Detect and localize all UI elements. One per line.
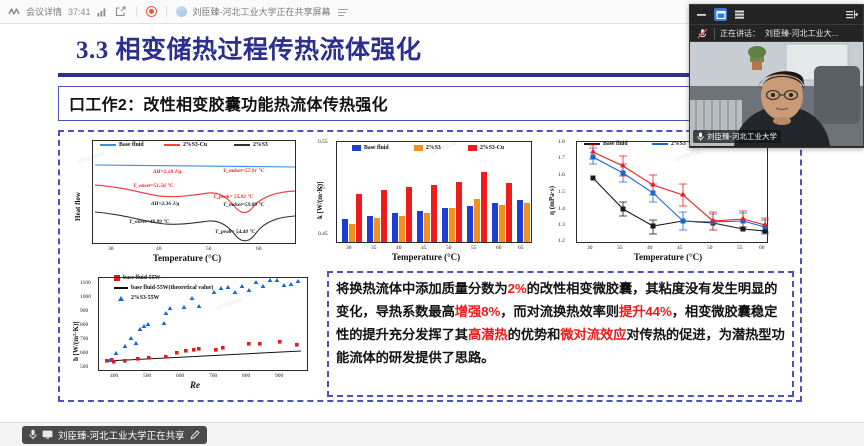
collapse-panel-icon[interactable] — [845, 8, 858, 21]
body-text: 的优势和 — [508, 327, 561, 342]
y-tick: 500 — [80, 364, 88, 370]
y-tick: 900 — [80, 308, 88, 314]
chart-dsc: 1070003192 Base fluid 2%S3-Cu — [66, 137, 304, 265]
bar — [449, 208, 455, 242]
chart-x-axis-label: Temperature (°C) — [82, 253, 292, 263]
y-tick: 600 — [80, 350, 88, 356]
x-tick: 30 — [108, 246, 114, 252]
x-tick: 45 — [677, 245, 683, 251]
list-icon[interactable] — [337, 6, 349, 18]
bar — [424, 213, 430, 242]
mic-muted-icon — [696, 27, 709, 40]
mic-icon[interactable] — [29, 429, 37, 440]
chart-annotation: ΔH=2.18 J/g — [153, 169, 181, 175]
y-tick: 1.8 — [558, 139, 565, 145]
x-tick: 60 — [256, 246, 262, 252]
bar — [406, 187, 412, 242]
list-view-icon[interactable] — [733, 8, 746, 21]
bar — [381, 190, 387, 242]
slide-subtitle: 口工作2：改性相变胶囊功能热流体传热强化 — [69, 97, 388, 114]
highlighted-text: 高潜热 — [468, 327, 508, 342]
chart-plot-area: ΔH=2.18 J/g T_onset=51.56 °C T_mdset=57.… — [92, 140, 296, 244]
sharing-status-text: 刘臣臻-河北工业大学正在共享 — [58, 428, 185, 442]
participant-name: 刘臣臻-河北工业大学 — [707, 131, 777, 142]
chart-y-axis-label: h [W/(m²·K)] — [72, 321, 80, 361]
participant-name-badge: 刘臣臻-河北工业大学 — [693, 130, 781, 143]
x-tick: 60 — [759, 245, 765, 251]
x-tick: 900 — [275, 373, 283, 379]
bar — [392, 213, 398, 242]
content-row-bottom: 1070003192 base fluid-55W base fluid-55W… — [66, 271, 794, 397]
chart-x-axis-label: Temperature (°C) — [568, 252, 768, 262]
y-tick: 1.6 — [558, 172, 565, 178]
chart-viscosity: 1070003192 Base fluid 2%S3 — [544, 137, 780, 265]
x-tick: 30 — [587, 245, 593, 251]
bar — [517, 200, 523, 242]
bar — [531, 186, 532, 242]
pencil-icon[interactable] — [190, 430, 200, 440]
x-tick: 60 — [496, 245, 502, 251]
x-tick: 50 — [707, 245, 713, 251]
y-tick: 800 — [80, 322, 88, 328]
bar — [399, 216, 405, 242]
mic-icon — [697, 132, 704, 141]
bar — [417, 211, 423, 242]
divider — [166, 6, 167, 17]
chart-plot-area — [98, 277, 308, 371]
x-tick: 45 — [421, 245, 427, 251]
chart-y-axis-label: Heat flow — [74, 192, 82, 221]
video-feed[interactable]: 刘臣臻-河北工业大学 — [690, 42, 863, 146]
chart-y-axis-label: η (mPa·s) — [548, 186, 556, 215]
x-tick: 40 — [396, 245, 402, 251]
participant-avatar-icon — [176, 6, 187, 17]
chart-annotation: T_onset=49.89 °C — [129, 219, 169, 225]
x-tick: 400 — [110, 373, 118, 379]
x-tick: 30 — [346, 245, 352, 251]
x-tick: 600 — [176, 373, 184, 379]
chart-thermal-conductivity: 1070003192 Base fluid 2%S3 — [310, 137, 538, 265]
body-text: ，而对流换热效率则 — [500, 304, 619, 319]
highlighted-text: 2% — [508, 281, 527, 296]
bar — [499, 205, 505, 242]
bar — [492, 203, 498, 242]
x-tick: 55 — [471, 245, 477, 251]
x-tick: 35 — [371, 245, 377, 251]
y-tick: 0.45 — [318, 231, 328, 237]
meeting-window: 会议详情 37:41 刘臣臻-河北工业大学正在共享屏幕 — [0, 0, 864, 446]
y-tick: 0.55 — [318, 139, 328, 145]
x-tick: 700 — [209, 373, 217, 379]
speaking-label: 正在讲话： — [720, 28, 760, 39]
bar — [456, 182, 462, 242]
body-text: 将换热流体中添加质量分数为 — [336, 281, 508, 296]
y-tick: 1.5 — [558, 189, 565, 195]
video-panel-titlebar[interactable] — [690, 5, 863, 24]
signal-bars-icon[interactable] — [97, 6, 109, 18]
bar — [342, 219, 348, 242]
y-tick: 0.5 — [318, 185, 325, 191]
chart-annotation: ΔH=2.36 J/g — [151, 201, 179, 207]
active-speaker-bar: 正在讲话： 刘臣臻-河北工业大... — [690, 24, 863, 42]
bar — [467, 206, 473, 242]
chart-x-axis-label: Temperature (°C) — [326, 252, 526, 262]
chart-annotation: T_onset=51.56 °C — [133, 183, 173, 189]
highlighted-text: 增强8% — [455, 304, 500, 319]
chart-x-axis-label: Re — [90, 380, 300, 390]
bar — [374, 218, 380, 242]
bar — [367, 216, 373, 242]
chart-plot-area — [576, 141, 768, 243]
y-tick: 1.2 — [558, 238, 565, 244]
y-tick: 1000 — [80, 294, 91, 300]
bar — [506, 183, 512, 242]
window-icon[interactable] — [714, 8, 727, 21]
x-tick: 500 — [143, 373, 151, 379]
chart-annotation: T_mdset=57.91 °C — [223, 168, 264, 174]
x-tick: 35 — [617, 245, 623, 251]
bar — [481, 172, 487, 242]
chart-annotation: T_mdset=59.89 °C — [223, 202, 264, 208]
bar — [356, 194, 362, 242]
chart-plot-area — [336, 141, 532, 243]
x-tick: 50 — [446, 245, 452, 251]
highlighted-text: 提升44% — [619, 304, 672, 319]
x-tick: 50 — [206, 246, 212, 252]
conclusion-text-box: 将换热流体中添加质量分数为2%的改性相变微胶囊，其粘度没有发生明显的变化，导热系… — [327, 271, 794, 397]
y-tick: 1.7 — [558, 155, 565, 161]
bar — [474, 199, 480, 242]
screen-share-icon[interactable] — [42, 430, 53, 439]
x-tick: 40 — [156, 246, 162, 252]
x-tick: 40 — [647, 245, 653, 251]
sharing-status-pill[interactable]: 刘臣臻-河北工业大学正在共享 — [22, 426, 207, 444]
y-tick: 1.4 — [558, 206, 565, 212]
y-tick: 700 — [80, 336, 88, 342]
highlighted-text: 微对流效应 — [560, 327, 626, 342]
screen-sharing-status: 刘臣臻-河北工业大学正在共享屏幕 — [193, 5, 331, 18]
meeting-details-icon[interactable] — [8, 6, 20, 18]
y-tick: 1100 — [80, 280, 91, 286]
chart-annotation: T_peak= 54.40 °C — [215, 229, 255, 235]
bar — [431, 185, 437, 242]
speaking-name: 刘臣臻-河北工业大... — [765, 28, 838, 39]
content-dashed-frame: 1070003192 Base fluid 2%S3-Cu — [58, 130, 802, 402]
x-tick: 65 — [518, 245, 524, 251]
x-tick: 55 — [737, 245, 743, 251]
floating-video-panel[interactable]: 正在讲话： 刘臣臻-河北工业大... — [689, 4, 864, 148]
minimize-icon[interactable] — [695, 8, 708, 21]
external-link-icon[interactable] — [115, 6, 127, 18]
meeting-bottombar: 刘臣臻-河北工业大学正在共享 — [0, 422, 864, 446]
bar — [349, 224, 355, 242]
y-tick: 1.3 — [558, 222, 565, 228]
x-tick: 800 — [242, 373, 250, 379]
chart-annotation: T_peak= 55.92 °C — [213, 194, 253, 200]
conclusion-paragraph: 将换热流体中添加质量分数为2%的改性相变微胶囊，其粘度没有发生明显的变化，导热系… — [336, 277, 785, 369]
meeting-timer: 37:41 — [68, 7, 91, 17]
divider — [136, 6, 137, 17]
bar — [524, 203, 530, 242]
record-dot-icon[interactable] — [146, 6, 157, 17]
chart-heat-transfer-coefficient: 1070003192 base fluid-55W base fluid-55W… — [66, 271, 321, 397]
bar — [442, 208, 448, 242]
meeting-details-label[interactable]: 会议详情 — [26, 5, 62, 18]
charts-row-top: 1070003192 Base fluid 2%S3-Cu — [66, 137, 794, 265]
